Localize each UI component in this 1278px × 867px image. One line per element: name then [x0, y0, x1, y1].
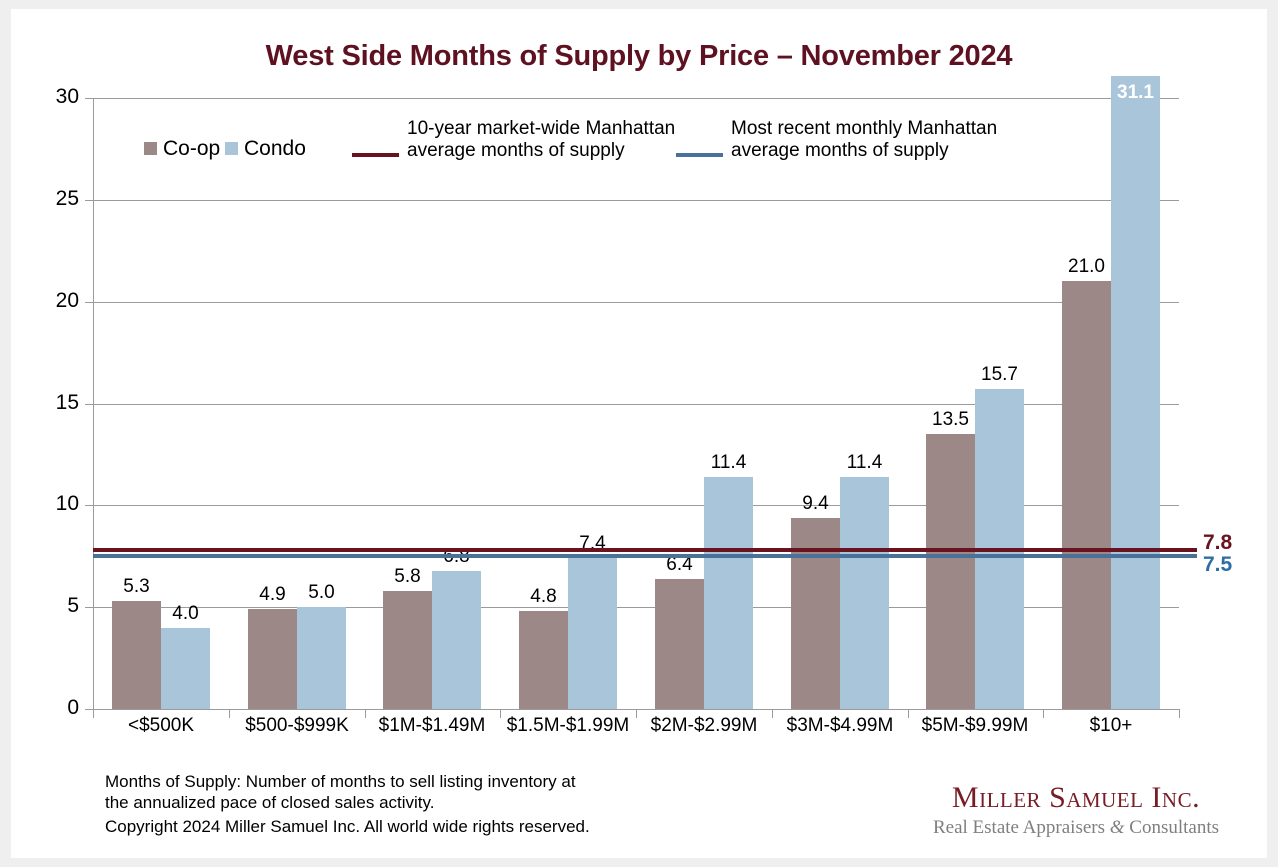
- miller-samuel-logo: Miller Samuel Inc. Real Estate Appraiser…: [931, 781, 1221, 839]
- bar-condo[interactable]: [840, 477, 889, 709]
- y-axis-tick-mark: [85, 302, 93, 303]
- y-axis-tick-mark: [85, 98, 93, 99]
- x-axis-tick-label: $3M-$4.99M: [772, 715, 908, 737]
- y-axis-line: [93, 98, 94, 710]
- reference-value-recent: 7.5: [1203, 553, 1232, 577]
- bar-value-label: 4.0: [143, 603, 228, 625]
- bar-coop[interactable]: [791, 518, 840, 709]
- legend-label-tenyear-line1: 10-year market-wide Manhattan: [407, 118, 675, 140]
- legend-swatch-condo: [225, 142, 238, 155]
- bar-coop[interactable]: [926, 434, 975, 709]
- legend-label-recent-line2: average months of supply: [731, 140, 997, 162]
- copyright-text: Copyright 2024 Miller Samuel Inc. All wo…: [105, 817, 590, 837]
- gridline: [93, 98, 1179, 99]
- bar-value-label: 11.4: [686, 452, 771, 474]
- x-axis-tick-label: $2M-$2.99M: [636, 715, 772, 737]
- logo-tagline: Real Estate Appraisers & Consultants: [931, 817, 1221, 839]
- reference-line-recent: [93, 554, 1197, 558]
- legend-label-tenyear: 10-year market-wide Manhattan average mo…: [407, 118, 675, 162]
- bar-value-label: 15.7: [957, 364, 1042, 386]
- bar-condo[interactable]: [704, 477, 753, 709]
- bar-condo[interactable]: [432, 571, 481, 709]
- bar-value-label: 5.3: [94, 576, 179, 598]
- logo-tagline-before: Real Estate Appraisers: [933, 817, 1110, 838]
- x-axis-tick-label: $1.5M-$1.99M: [500, 715, 636, 737]
- bar-value-label: 11.4: [822, 452, 907, 474]
- y-axis-tick-label: 20: [19, 289, 79, 313]
- legend-label-recent-line1: Most recent monthly Manhattan: [731, 118, 997, 140]
- x-axis-tick-label: $500-$999K: [229, 715, 365, 737]
- chart-note: Months of Supply: Number of months to se…: [105, 771, 576, 813]
- chart-card: West Side Months of Supply by Price – No…: [11, 9, 1267, 858]
- legend-label-tenyear-line2: average months of supply: [407, 140, 675, 162]
- legend-label-condo: Condo: [244, 137, 306, 161]
- bar-coop[interactable]: [383, 591, 432, 709]
- y-axis-tick-mark: [85, 607, 93, 608]
- y-axis-tick-label: 25: [19, 187, 79, 211]
- y-axis-tick-mark: [85, 200, 93, 201]
- bar-condo[interactable]: [297, 607, 346, 709]
- legend-line-tenyear: [352, 153, 399, 157]
- x-axis-tick-label: $10+: [1043, 715, 1179, 737]
- bar-condo[interactable]: [161, 628, 210, 709]
- bar-condo[interactable]: [568, 558, 617, 709]
- image-frame: West Side Months of Supply by Price – No…: [0, 0, 1278, 867]
- reference-line-tenyear: [93, 548, 1197, 552]
- bar-value-label: 5.0: [279, 582, 364, 604]
- y-axis-tick-label: 5: [19, 594, 79, 618]
- y-axis-tick-mark: [85, 709, 93, 710]
- logo-company-name: Miller Samuel Inc.: [931, 781, 1221, 815]
- bar-condo[interactable]: [1111, 76, 1160, 709]
- x-axis-tick-label: $1M-$1.49M: [364, 715, 500, 737]
- gridline: [93, 302, 1179, 303]
- chart-title: West Side Months of Supply by Price – No…: [11, 40, 1267, 73]
- y-axis-tick-mark: [85, 505, 93, 506]
- y-axis-tick-label: 10: [19, 492, 79, 516]
- legend-swatch-coop: [144, 142, 157, 155]
- y-axis-tick-mark: [85, 404, 93, 405]
- reference-value-tenyear: 7.8: [1203, 531, 1232, 555]
- logo-tagline-after: Consultants: [1125, 817, 1219, 838]
- y-axis-tick-label: 30: [19, 85, 79, 109]
- legend-line-recent: [676, 153, 723, 157]
- y-axis-tick-label: 0: [19, 696, 79, 720]
- y-axis-tick-label: 15: [19, 391, 79, 415]
- x-axis-tick-mark: [1179, 710, 1180, 718]
- x-axis-tick-label: $5M-$9.99M: [907, 715, 1043, 737]
- gridline: [93, 200, 1179, 201]
- logo-tagline-ampersand: &: [1110, 817, 1125, 838]
- bar-coop[interactable]: [1062, 281, 1111, 709]
- legend-label-recent: Most recent monthly Manhattan average mo…: [731, 118, 997, 162]
- bar-value-label: 31.1: [1093, 82, 1178, 104]
- bar-coop[interactable]: [655, 579, 704, 709]
- bar-coop[interactable]: [248, 609, 297, 709]
- legend-label-coop: Co-op: [163, 137, 220, 161]
- x-axis-tick-label: <$500K: [93, 715, 229, 737]
- bar-coop[interactable]: [519, 611, 568, 709]
